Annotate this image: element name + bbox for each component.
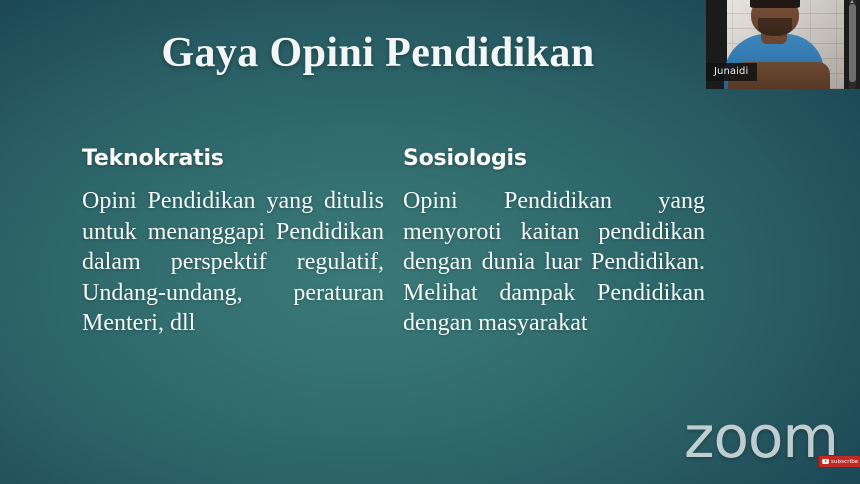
column-body-teknokratis: Opini Pendidikan yang ditulis untuk mena… bbox=[82, 186, 384, 339]
scroll-up-arrow-icon[interactable] bbox=[850, 0, 854, 3]
participant-strip-scrollbar[interactable] bbox=[849, 0, 856, 89]
slide-column-teknokratis: Teknokratis Opini Pendidikan yang dituli… bbox=[82, 146, 384, 339]
participant-video-tile[interactable]: Junaidi bbox=[706, 0, 849, 89]
scrollbar-thumb[interactable] bbox=[849, 4, 856, 82]
zoom-meeting-screen-share: Gaya Opini Pendidikan Teknokratis Opini … bbox=[0, 0, 860, 484]
subscribe-badge[interactable]: subscribe bbox=[818, 455, 860, 468]
zoom-logo-watermark: zoom bbox=[684, 408, 838, 466]
participant-name-label: Junaidi bbox=[706, 63, 757, 81]
participant-beard bbox=[758, 18, 792, 36]
column-heading-sosiologis: Sosiologis bbox=[403, 146, 705, 172]
slide-title: Gaya Opini Pendidikan bbox=[0, 27, 756, 79]
participant-hair bbox=[750, 0, 800, 8]
column-body-sosiologis: Opini Pendidikan yang menyoroti kaitan p… bbox=[403, 186, 705, 339]
subscribe-badge-label: subscribe bbox=[831, 459, 858, 465]
slide-column-sosiologis: Sosiologis Opini Pendidikan yang menyoro… bbox=[403, 146, 705, 339]
youtube-play-icon bbox=[822, 459, 829, 464]
column-heading-teknokratis: Teknokratis bbox=[82, 146, 384, 172]
participant-video-strip: Junaidi bbox=[706, 0, 860, 89]
